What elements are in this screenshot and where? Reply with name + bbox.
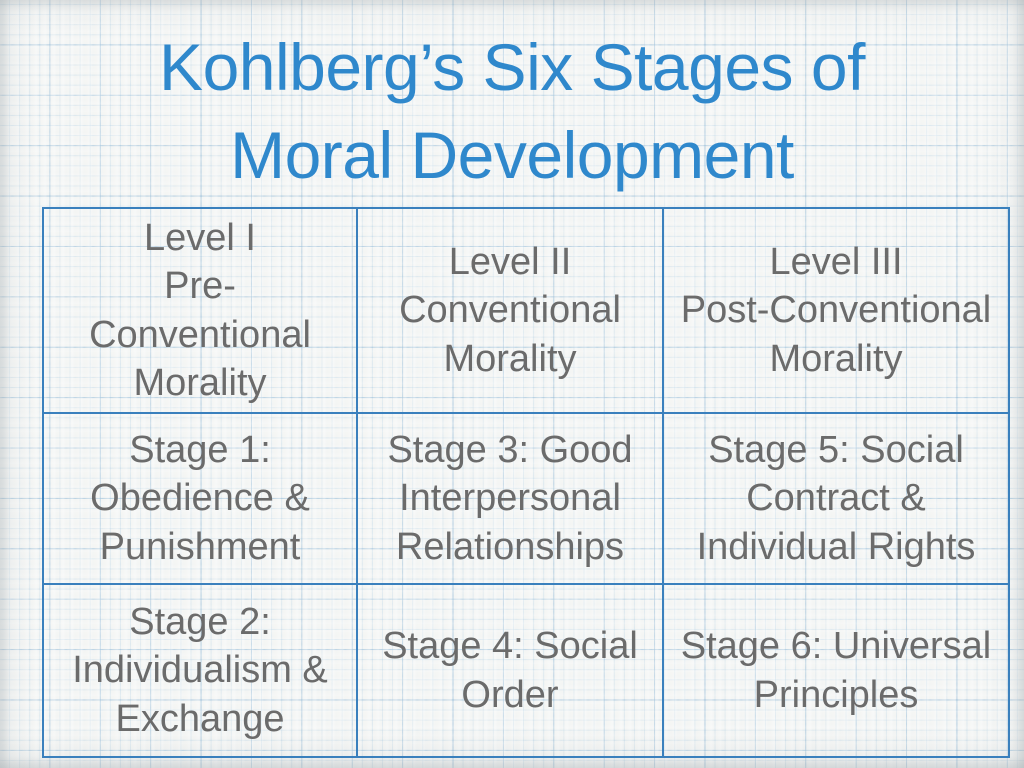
- cell-text: Level I Pre- Conventional Morality: [50, 214, 350, 407]
- cell-stage-1: Stage 1: Obedience & Punishment: [43, 413, 357, 584]
- cell-text: Level II Conventional Morality: [364, 238, 656, 383]
- cell-level-3: Level III Post-Conventional Morality: [663, 208, 1009, 413]
- cell-stage-6: Stage 6: Universal Principles: [663, 584, 1009, 757]
- page-title: Kohlberg’s Six Stages of Moral Developme…: [0, 24, 1024, 200]
- cell-stage-5: Stage 5: Social Contract & Individual Ri…: [663, 413, 1009, 584]
- cell-text: Stage 4: Social Order: [364, 622, 656, 719]
- moral-stages-table: Level I Pre- Conventional Morality Level…: [42, 207, 1010, 758]
- cell-level-2: Level II Conventional Morality: [357, 208, 663, 413]
- cell-text: Stage 1: Obedience & Punishment: [50, 426, 350, 571]
- slide-canvas: Kohlberg’s Six Stages of Moral Developme…: [0, 0, 1024, 768]
- title-line-2: Moral Development: [0, 112, 1024, 200]
- cell-stage-3: Stage 3: Good Interpersonal Relationship…: [357, 413, 663, 584]
- cell-text: Level III Post-Conventional Morality: [670, 238, 1002, 383]
- table-row: Level I Pre- Conventional Morality Level…: [43, 208, 1009, 413]
- title-line-1: Kohlberg’s Six Stages of: [0, 24, 1024, 112]
- cell-text: Stage 6: Universal Principles: [670, 622, 1002, 719]
- cell-stage-4: Stage 4: Social Order: [357, 584, 663, 757]
- table-row: Stage 2: Individualism & Exchange Stage …: [43, 584, 1009, 757]
- cell-level-1: Level I Pre- Conventional Morality: [43, 208, 357, 413]
- cell-text: Stage 5: Social Contract & Individual Ri…: [670, 426, 1002, 571]
- cell-text: Stage 2: Individualism & Exchange: [50, 598, 350, 743]
- cell-stage-2: Stage 2: Individualism & Exchange: [43, 584, 357, 757]
- cell-text: Stage 3: Good Interpersonal Relationship…: [364, 426, 656, 571]
- moral-stages-table-container: Level I Pre- Conventional Morality Level…: [42, 207, 1008, 756]
- table-row: Stage 1: Obedience & Punishment Stage 3:…: [43, 413, 1009, 584]
